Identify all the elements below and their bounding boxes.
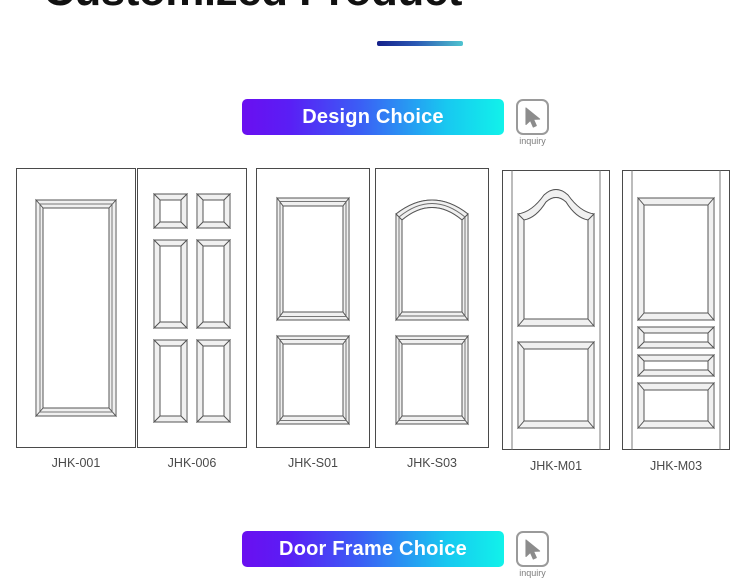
door-label-jhk-m03: JHK-M03 xyxy=(622,459,730,473)
design-choice-button[interactable]: Design Choice xyxy=(242,99,504,135)
design-choice-inquiry[interactable]: inquiry xyxy=(514,99,551,147)
inquiry-label: inquiry xyxy=(519,136,546,147)
door-card-jhk-s01[interactable]: JHK-S01 xyxy=(256,168,370,473)
title-underline-accent xyxy=(377,41,463,46)
design-choice-header: Design Choice inquiry xyxy=(242,99,551,147)
door-card-jhk-001[interactable]: JHK-001 xyxy=(16,168,136,473)
door-frame-choice-button[interactable]: Door Frame Choice xyxy=(242,531,504,567)
door-card-jhk-006[interactable]: JHK-006 xyxy=(137,168,247,473)
inquiry-frame[interactable] xyxy=(516,531,549,567)
inquiry-frame[interactable] xyxy=(516,99,549,135)
door-design-grid: JHK-001 xyxy=(0,0,750,577)
inquiry-label: inquiry xyxy=(519,568,546,579)
door-figure-jhk-s03 xyxy=(375,168,489,448)
door-figure-jhk-006 xyxy=(137,168,247,448)
door-label-jhk-s03: JHK-S03 xyxy=(375,456,489,470)
door-label-jhk-s01: JHK-S01 xyxy=(256,456,370,470)
door-figure-jhk-001 xyxy=(16,168,136,448)
door-label-jhk-001: JHK-001 xyxy=(16,456,136,470)
door-label-jhk-006: JHK-006 xyxy=(137,456,247,470)
door-frame-choice-inquiry[interactable]: inquiry xyxy=(514,531,551,579)
door-card-jhk-m03[interactable]: JHK-M03 xyxy=(622,170,730,475)
cursor-arrow-icon xyxy=(525,539,544,561)
door-figure-jhk-m03 xyxy=(622,170,730,450)
door-card-jhk-s03[interactable]: JHK-S03 xyxy=(375,168,489,473)
cursor-arrow-icon xyxy=(525,107,544,129)
door-card-jhk-m01[interactable]: JHK-M01 xyxy=(502,170,610,475)
door-figure-jhk-s01 xyxy=(256,168,370,448)
door-figure-jhk-m01 xyxy=(502,170,610,450)
door-label-jhk-m01: JHK-M01 xyxy=(502,459,610,473)
page-title: Customized Product xyxy=(0,0,505,16)
door-frame-choice-header: Door Frame Choice inquiry xyxy=(242,531,551,579)
